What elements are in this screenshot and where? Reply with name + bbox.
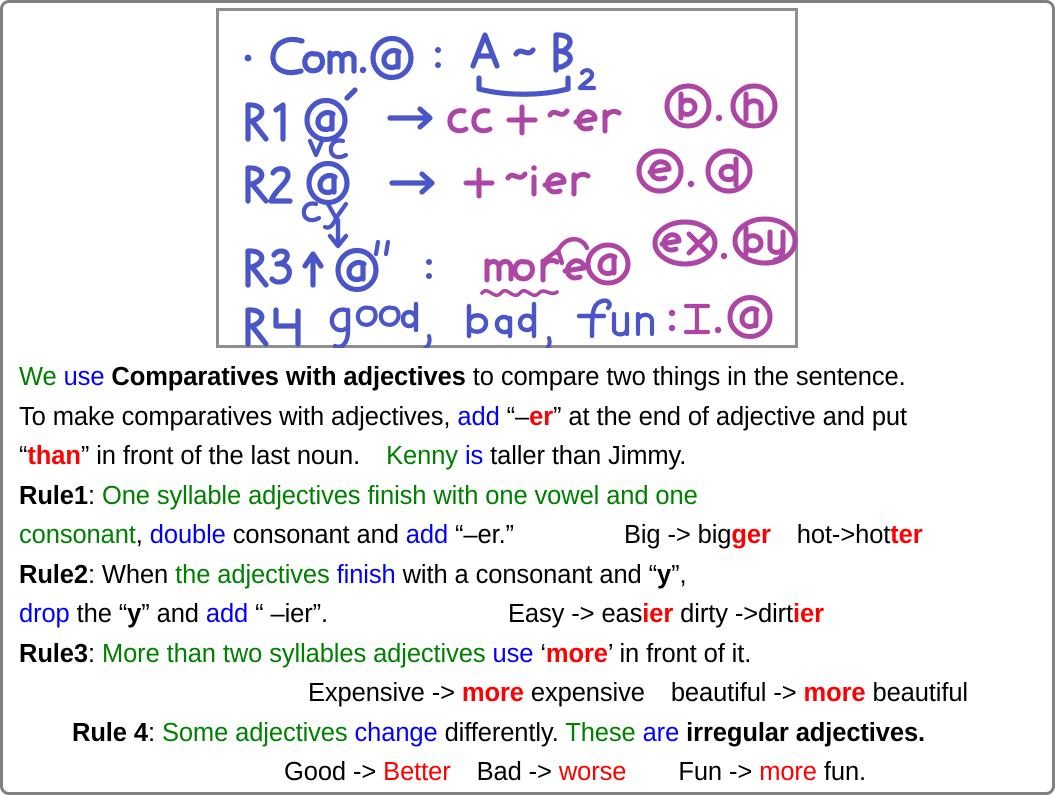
line5-mid: consonant and <box>233 521 399 549</box>
example-dirty: dirty ->dirt <box>680 600 793 628</box>
line5-comma: , <box>136 521 143 549</box>
example-big-suffix: ger <box>731 521 770 549</box>
text-line-3: “than” in front of the last noun.Kenny i… <box>19 437 1039 477</box>
line3-tail: taller than Jimmy. <box>490 442 686 470</box>
line5-word-consonant: consonant <box>19 521 136 549</box>
line7-letter-y: y <box>127 600 141 628</box>
line2-word-add: add <box>457 403 499 431</box>
example-dirty-suffix: ier <box>793 600 824 628</box>
rule4-colon: : <box>148 719 155 747</box>
example-expensive: Expensive -> <box>308 679 455 707</box>
text-line-8-rule3: Rule3: More than two syllables adjective… <box>19 635 1039 675</box>
text-line-7: drop the “y” and add “ –ier”.Easy -> eas… <box>19 595 1039 635</box>
example-hot-suffix: ter <box>890 521 922 549</box>
whiteboard-photo <box>216 8 798 348</box>
line5-quoted-er: “–er.” <box>455 521 514 549</box>
rule3-body: More than two syllables adjectives <box>102 640 486 668</box>
text-line-11: Good -> BetterBad -> worseFun -> more fu… <box>19 753 1039 793</box>
rule1-colon: : <box>88 482 95 510</box>
line3-word-than: than <box>27 442 80 470</box>
slide-root: We use Comparatives with adjectives to c… <box>0 0 1055 795</box>
rule3-label: Rule3 <box>19 640 88 668</box>
example-bad-answer: worse <box>559 758 627 786</box>
line1-tail: to compare two things in the sentence. <box>473 363 906 391</box>
example-fun: Fun -> <box>678 758 752 786</box>
line3-mid: ” in front of the last noun. <box>81 442 360 470</box>
line7-quoted-ier: “ –ier”. <box>255 600 328 628</box>
example-easy: Easy -> eas <box>508 600 642 628</box>
example-easy-suffix: ier <box>642 600 673 628</box>
text-line-9: Expensive -> more expensivebeautiful -> … <box>19 674 1039 714</box>
rule4-word-differently: differently. <box>445 719 559 747</box>
lesson-text-block: We use Comparatives with adjectives to c… <box>19 358 1039 793</box>
line8-word-use: use <box>493 640 534 668</box>
example-fun-answer: more <box>759 758 817 786</box>
example-big: Big -> big <box>624 521 731 549</box>
example-beautiful-more: more <box>804 679 866 707</box>
example-expensive-tail: expensive <box>531 679 645 707</box>
line2-quote-open: “– <box>507 403 529 431</box>
line7-word-add: add <box>206 600 248 628</box>
line8-tail: ’ in front of it. <box>608 640 751 668</box>
example-bad: Bad -> <box>477 758 552 786</box>
rule4-word-change: change <box>355 719 438 747</box>
rule1-label: Rule1 <box>19 482 88 510</box>
text-line-10-rule4: Rule 4: Some adjectives change different… <box>19 714 1039 754</box>
line2-suffix-er: er <box>529 403 553 431</box>
line6-mid: with a consonant and “ <box>403 561 657 589</box>
line6-tail: ”, <box>671 561 686 589</box>
rule3-colon: : <box>88 640 95 668</box>
example-fun-tail: fun. <box>824 758 866 786</box>
rule1-body-part1: One syllable adjectives finish with one … <box>102 482 698 510</box>
line3-name-kenny: Kenny <box>386 442 458 470</box>
line1-word-we: We <box>19 363 57 391</box>
text-line-4-rule1: Rule1: One syllable adjectives finish wi… <box>19 477 1039 517</box>
rule2-label: Rule2 <box>19 561 88 589</box>
rule4-phrase-some-adjectives: Some adjectives <box>162 719 348 747</box>
line5-word-double: double <box>150 521 226 549</box>
example-hot: hot->hot <box>797 521 890 549</box>
text-line-6-rule2: Rule2: When the adjectives finish with a… <box>19 556 1039 596</box>
whiteboard-ink-drawing <box>216 8 798 348</box>
line7-and: ” and <box>141 600 199 628</box>
example-beautiful: beautiful -> <box>671 679 797 707</box>
line1-word-use: use <box>64 363 105 391</box>
rule2-when: : When <box>88 561 168 589</box>
rule4-label: Rule 4 <box>72 719 148 747</box>
example-expensive-more: more <box>462 679 524 707</box>
line3-word-is: is <box>465 442 483 470</box>
example-beautiful-tail: beautiful <box>872 679 968 707</box>
text-line-1: We use Comparatives with adjectives to c… <box>19 358 1039 398</box>
rule4-phrase-irregular: irregular adjectives. <box>686 719 925 747</box>
line6-word-finish: finish <box>337 561 396 589</box>
line6-phrase-the-adjectives: the adjectives <box>175 561 330 589</box>
line5-word-add: add <box>406 521 448 549</box>
example-good-answer: Better <box>383 758 450 786</box>
rule4-word-are: are <box>643 719 680 747</box>
text-line-5: consonant, double consonant and add “–er… <box>19 516 1039 556</box>
line6-letter-y: y <box>657 561 671 589</box>
example-good: Good -> <box>284 758 376 786</box>
line8-word-more: more <box>546 640 608 668</box>
line2-head: To make comparatives with adjectives, <box>19 403 450 431</box>
rule4-word-these: These <box>565 719 635 747</box>
line2-tail: ” at the end of adjective and put <box>553 403 907 431</box>
line1-phrase-comparatives: Comparatives with adjectives <box>111 363 465 391</box>
line7-the: the “ <box>77 600 128 628</box>
line7-word-drop: drop <box>19 600 70 628</box>
text-line-2: To make comparatives with adjectives, ad… <box>19 398 1039 438</box>
